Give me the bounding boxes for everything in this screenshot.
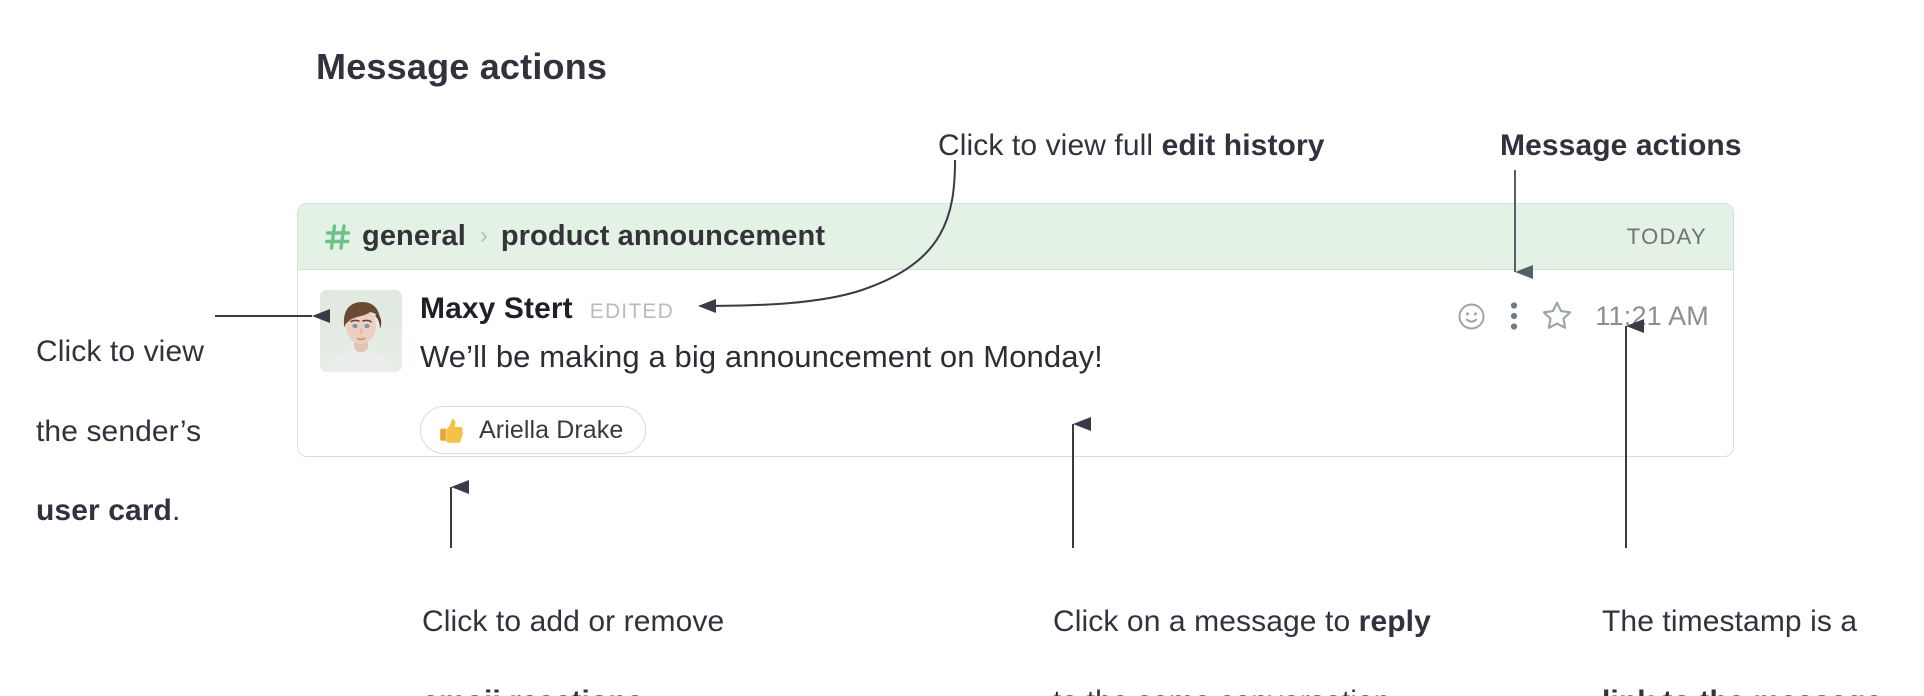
breadcrumb-chevron-icon: ›: [480, 224, 488, 248]
message-card: general › product announcement TODAY: [297, 203, 1734, 457]
vertical-dots-icon[interactable]: [1495, 294, 1533, 338]
message-row[interactable]: Maxy Stert EDITED We’ll be making a big …: [298, 270, 1733, 456]
annotation-timestamp-bold: link to the message: [1602, 685, 1882, 696]
annotation-reply-bold: reply: [1359, 605, 1431, 638]
hash-icon: [325, 223, 351, 251]
sender-name[interactable]: Maxy Stert: [420, 292, 573, 326]
avatar[interactable]: [320, 290, 402, 372]
breadcrumb-channel[interactable]: general: [362, 220, 466, 253]
annotation-timestamp-line1: The timestamp is a: [1602, 602, 1882, 642]
annotation-timestamp: The timestamp is a link to the message (…: [1602, 562, 1882, 696]
reaction-user-label: Ariella Drake: [479, 416, 623, 445]
annotation-user-card-bold: user card: [36, 494, 172, 527]
emoji-reaction-chip[interactable]: Ariella Drake: [420, 406, 646, 454]
annotation-user-card: Click to view the sender’s user card.: [36, 292, 204, 571]
annotation-reply-line2: to the same conversation.: [1053, 682, 1431, 696]
breadcrumb-topic[interactable]: product announcement: [501, 220, 825, 253]
annotation-user-card-tail: .: [172, 494, 180, 527]
channel-header-bar: general › product announcement TODAY: [298, 204, 1733, 270]
thumbs-up-icon: [437, 415, 467, 445]
date-label: TODAY: [1627, 224, 1707, 250]
annotation-reply: Click on a message to reply to the same …: [1053, 562, 1431, 696]
message-text[interactable]: We’ll be making a big announcement on Mo…: [420, 339, 1713, 375]
page-title: Message actions: [316, 46, 607, 88]
annotation-emoji-line1: Click to add or remove: [422, 602, 724, 642]
annotation-emoji-reactions: Click to add or remove emoji reactions.: [422, 562, 724, 696]
annotation-user-card-line1: Click to view: [36, 332, 204, 372]
annotation-reply-line1: Click on a message to: [1053, 605, 1359, 638]
annotation-edit-history-line1: Click to view full: [938, 129, 1162, 162]
annotation-user-card-line2: the sender’s: [36, 412, 204, 452]
star-outline-icon[interactable]: [1533, 294, 1581, 338]
message-actions-cluster: 11:21 AM: [1447, 294, 1709, 338]
screenshot-root: Message actions general › product announ…: [0, 0, 1924, 696]
edited-badge[interactable]: EDITED: [590, 300, 674, 324]
reaction-row: Ariella Drake: [420, 406, 646, 454]
message-timestamp-link[interactable]: 11:21 AM: [1595, 301, 1709, 332]
annotation-emoji-tail: .: [644, 685, 652, 696]
annotation-actions-menu-bold: Message actions: [1500, 129, 1742, 162]
annotation-edit-history-bold: edit history: [1162, 129, 1325, 162]
smiley-face-icon[interactable]: [1447, 294, 1495, 338]
annotation-emoji-bold: emoji reactions: [422, 685, 644, 696]
